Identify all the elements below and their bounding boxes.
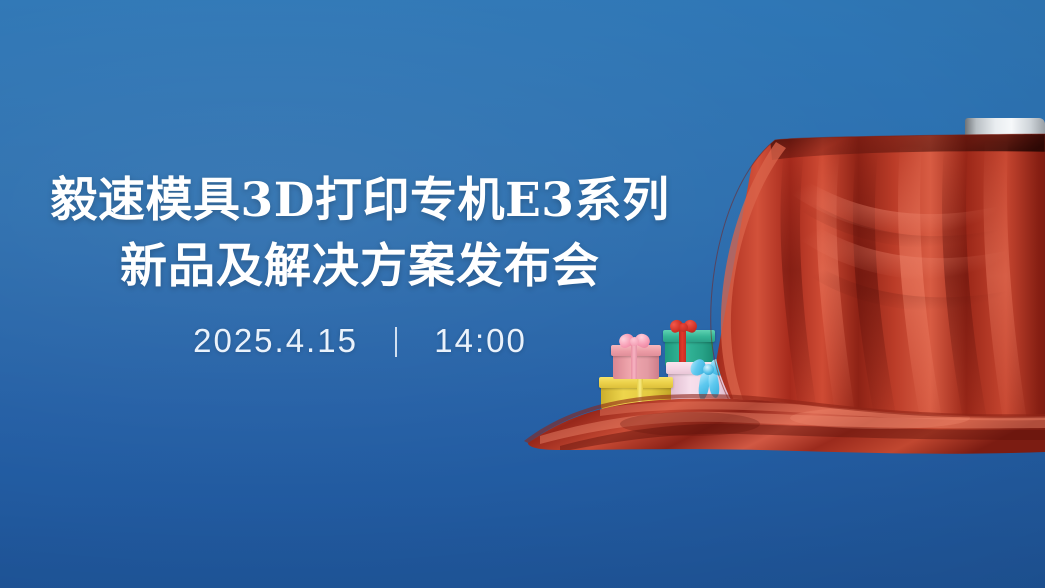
datetime-separator [395,327,397,357]
event-datetime: 2025.4.15 14:00 [0,322,720,360]
headline-block: 毅速模具3D打印专机E3系列 新品及解决方案发布会 2025.4.15 14:0… [0,168,720,360]
event-time: 14:00 [434,322,527,360]
event-banner: 毅速模具3D打印专机E3系列 新品及解决方案发布会 2025.4.15 14:0… [0,0,1045,588]
event-date: 2025.4.15 [193,322,358,360]
page-title-line-1: 毅速模具3D打印专机E3系列 [0,168,720,234]
page-title-line-2: 新品及解决方案发布会 [0,234,720,300]
